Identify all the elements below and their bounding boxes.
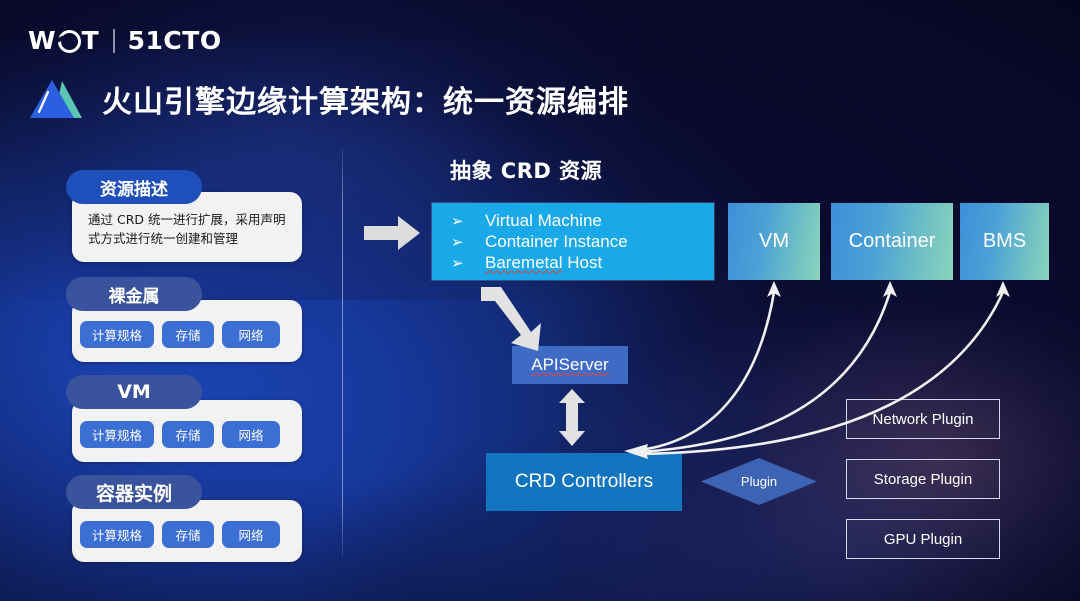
51cto-logo: 51CTO: [128, 26, 222, 55]
card-head-container-instance: 容器实例: [66, 475, 202, 509]
volcano-triangle-icon: [28, 76, 84, 122]
wot-circle-o-icon: [58, 30, 81, 53]
crd-item-label: Container Instance: [485, 232, 628, 252]
plugin-box-network[interactable]: Network Plugin: [846, 399, 1000, 439]
chip-compute-spec[interactable]: 计算规格: [80, 421, 154, 448]
bullet-arrow-icon: ➢: [446, 233, 485, 251]
chip-network[interactable]: 网络: [222, 321, 280, 348]
card-head-bare-metal: 裸金属: [66, 277, 202, 311]
crd-list: ➢ Virtual Machine ➢ Container Instance ➢…: [446, 210, 628, 273]
resource-box-bms[interactable]: BMS: [960, 203, 1049, 280]
crd-item-label: Virtual Machine: [485, 211, 602, 231]
spellcheck-word: Baremetal: [485, 253, 562, 272]
slide-canvas: W T 51CTO 火山引擎边缘计算架构：统一资源编排 资源描述 通过 CRD …: [0, 0, 1080, 601]
chip-row-bare-metal: 计算规格 存储 网络: [80, 321, 280, 348]
wot-logo: W T: [28, 26, 100, 55]
plugin-diamond[interactable]: Plugin: [700, 457, 818, 506]
chip-network[interactable]: 网络: [222, 421, 280, 448]
section-divider: [342, 148, 343, 558]
apiserver-box[interactable]: APIServer: [512, 346, 628, 384]
abstract-crd-box[interactable]: ➢ Virtual Machine ➢ Container Instance ➢…: [432, 203, 714, 280]
apiserver-label: APIServer: [531, 355, 608, 375]
plugin-box-gpu[interactable]: GPU Plugin: [846, 519, 1000, 559]
plugin-box-storage[interactable]: Storage Plugin: [846, 459, 1000, 499]
chip-storage[interactable]: 存储: [162, 321, 214, 348]
wot-letter-w: W: [28, 26, 57, 55]
chip-row-container-instance: 计算规格 存储 网络: [80, 521, 280, 548]
brand-logo-bar: W T 51CTO: [28, 26, 222, 55]
crd-list-item[interactable]: ➢ Virtual Machine: [446, 210, 628, 231]
chip-network[interactable]: 网络: [222, 521, 280, 548]
chip-storage[interactable]: 存储: [162, 421, 214, 448]
title-row: 火山引擎边缘计算架构：统一资源编排: [28, 76, 629, 122]
crd-item-label: Baremetal Host: [485, 253, 602, 273]
chip-storage[interactable]: 存储: [162, 521, 214, 548]
crd-section-heading: 抽象 CRD 资源: [450, 155, 602, 185]
resource-box-vm[interactable]: VM: [728, 203, 820, 280]
bullet-arrow-icon: ➢: [446, 254, 485, 272]
wot-letter-t: T: [82, 26, 100, 55]
crd-list-item[interactable]: ➢ Container Instance: [446, 231, 628, 252]
logo-divider: [113, 29, 115, 53]
plugin-diamond-label: Plugin: [700, 457, 818, 506]
resource-box-container[interactable]: Container: [831, 203, 953, 280]
bullet-arrow-icon: ➢: [446, 212, 485, 230]
page-title: 火山引擎边缘计算架构：统一资源编排: [102, 77, 629, 121]
chip-compute-spec[interactable]: 计算规格: [80, 521, 154, 548]
card-head-vm: VM: [66, 375, 202, 409]
crd-list-item[interactable]: ➢ Baremetal Host: [446, 252, 628, 273]
chip-row-vm: 计算规格 存储 网络: [80, 421, 280, 448]
card-head-resource-description: 资源描述: [66, 170, 202, 204]
card-description-text: 通过 CRD 统一进行扩展，采用声明式方式进行统一创建和管理: [88, 210, 293, 248]
crd-controllers-box[interactable]: CRD Controllers: [486, 453, 682, 511]
chip-compute-spec[interactable]: 计算规格: [80, 321, 154, 348]
